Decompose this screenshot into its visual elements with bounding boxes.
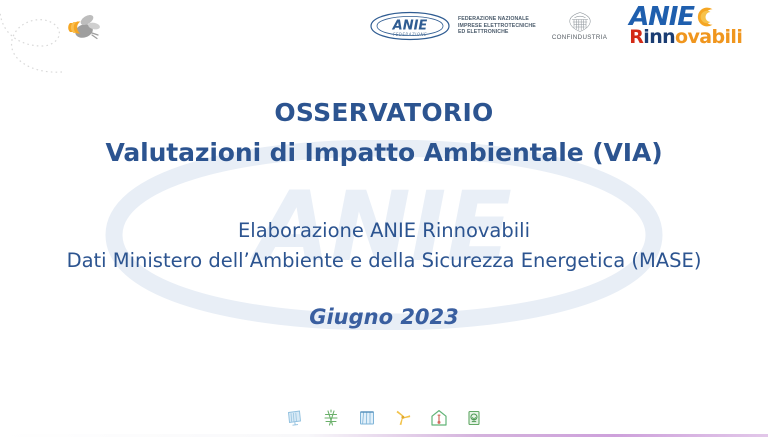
footer-icon-strip [0, 405, 768, 431]
smart-home-icon [429, 408, 449, 428]
credit-line-2: Dati Ministero dell’Ambiente e della Sic… [0, 249, 768, 272]
slide-canvas: ANIE ANIE FEDERAZIONE FEDERAZIONE NAZION… [0, 0, 768, 437]
battery-storage-icon [465, 409, 483, 427]
monitor-icon [285, 408, 305, 428]
publication-date: Giugno 2023 [0, 305, 768, 329]
wind-turbine-icon [393, 408, 413, 428]
credit-line-1: Elaborazione ANIE Rinnovabili [0, 219, 768, 242]
transmission-tower-icon [321, 408, 341, 428]
solar-panel-icon [357, 408, 377, 428]
slide-content: OSSERVATORIO Valutazioni di Impatto Ambi… [0, 0, 768, 437]
page-subtitle: Valutazioni di Impatto Ambientale (VIA) [0, 138, 768, 167]
page-title: OSSERVATORIO [0, 98, 768, 127]
